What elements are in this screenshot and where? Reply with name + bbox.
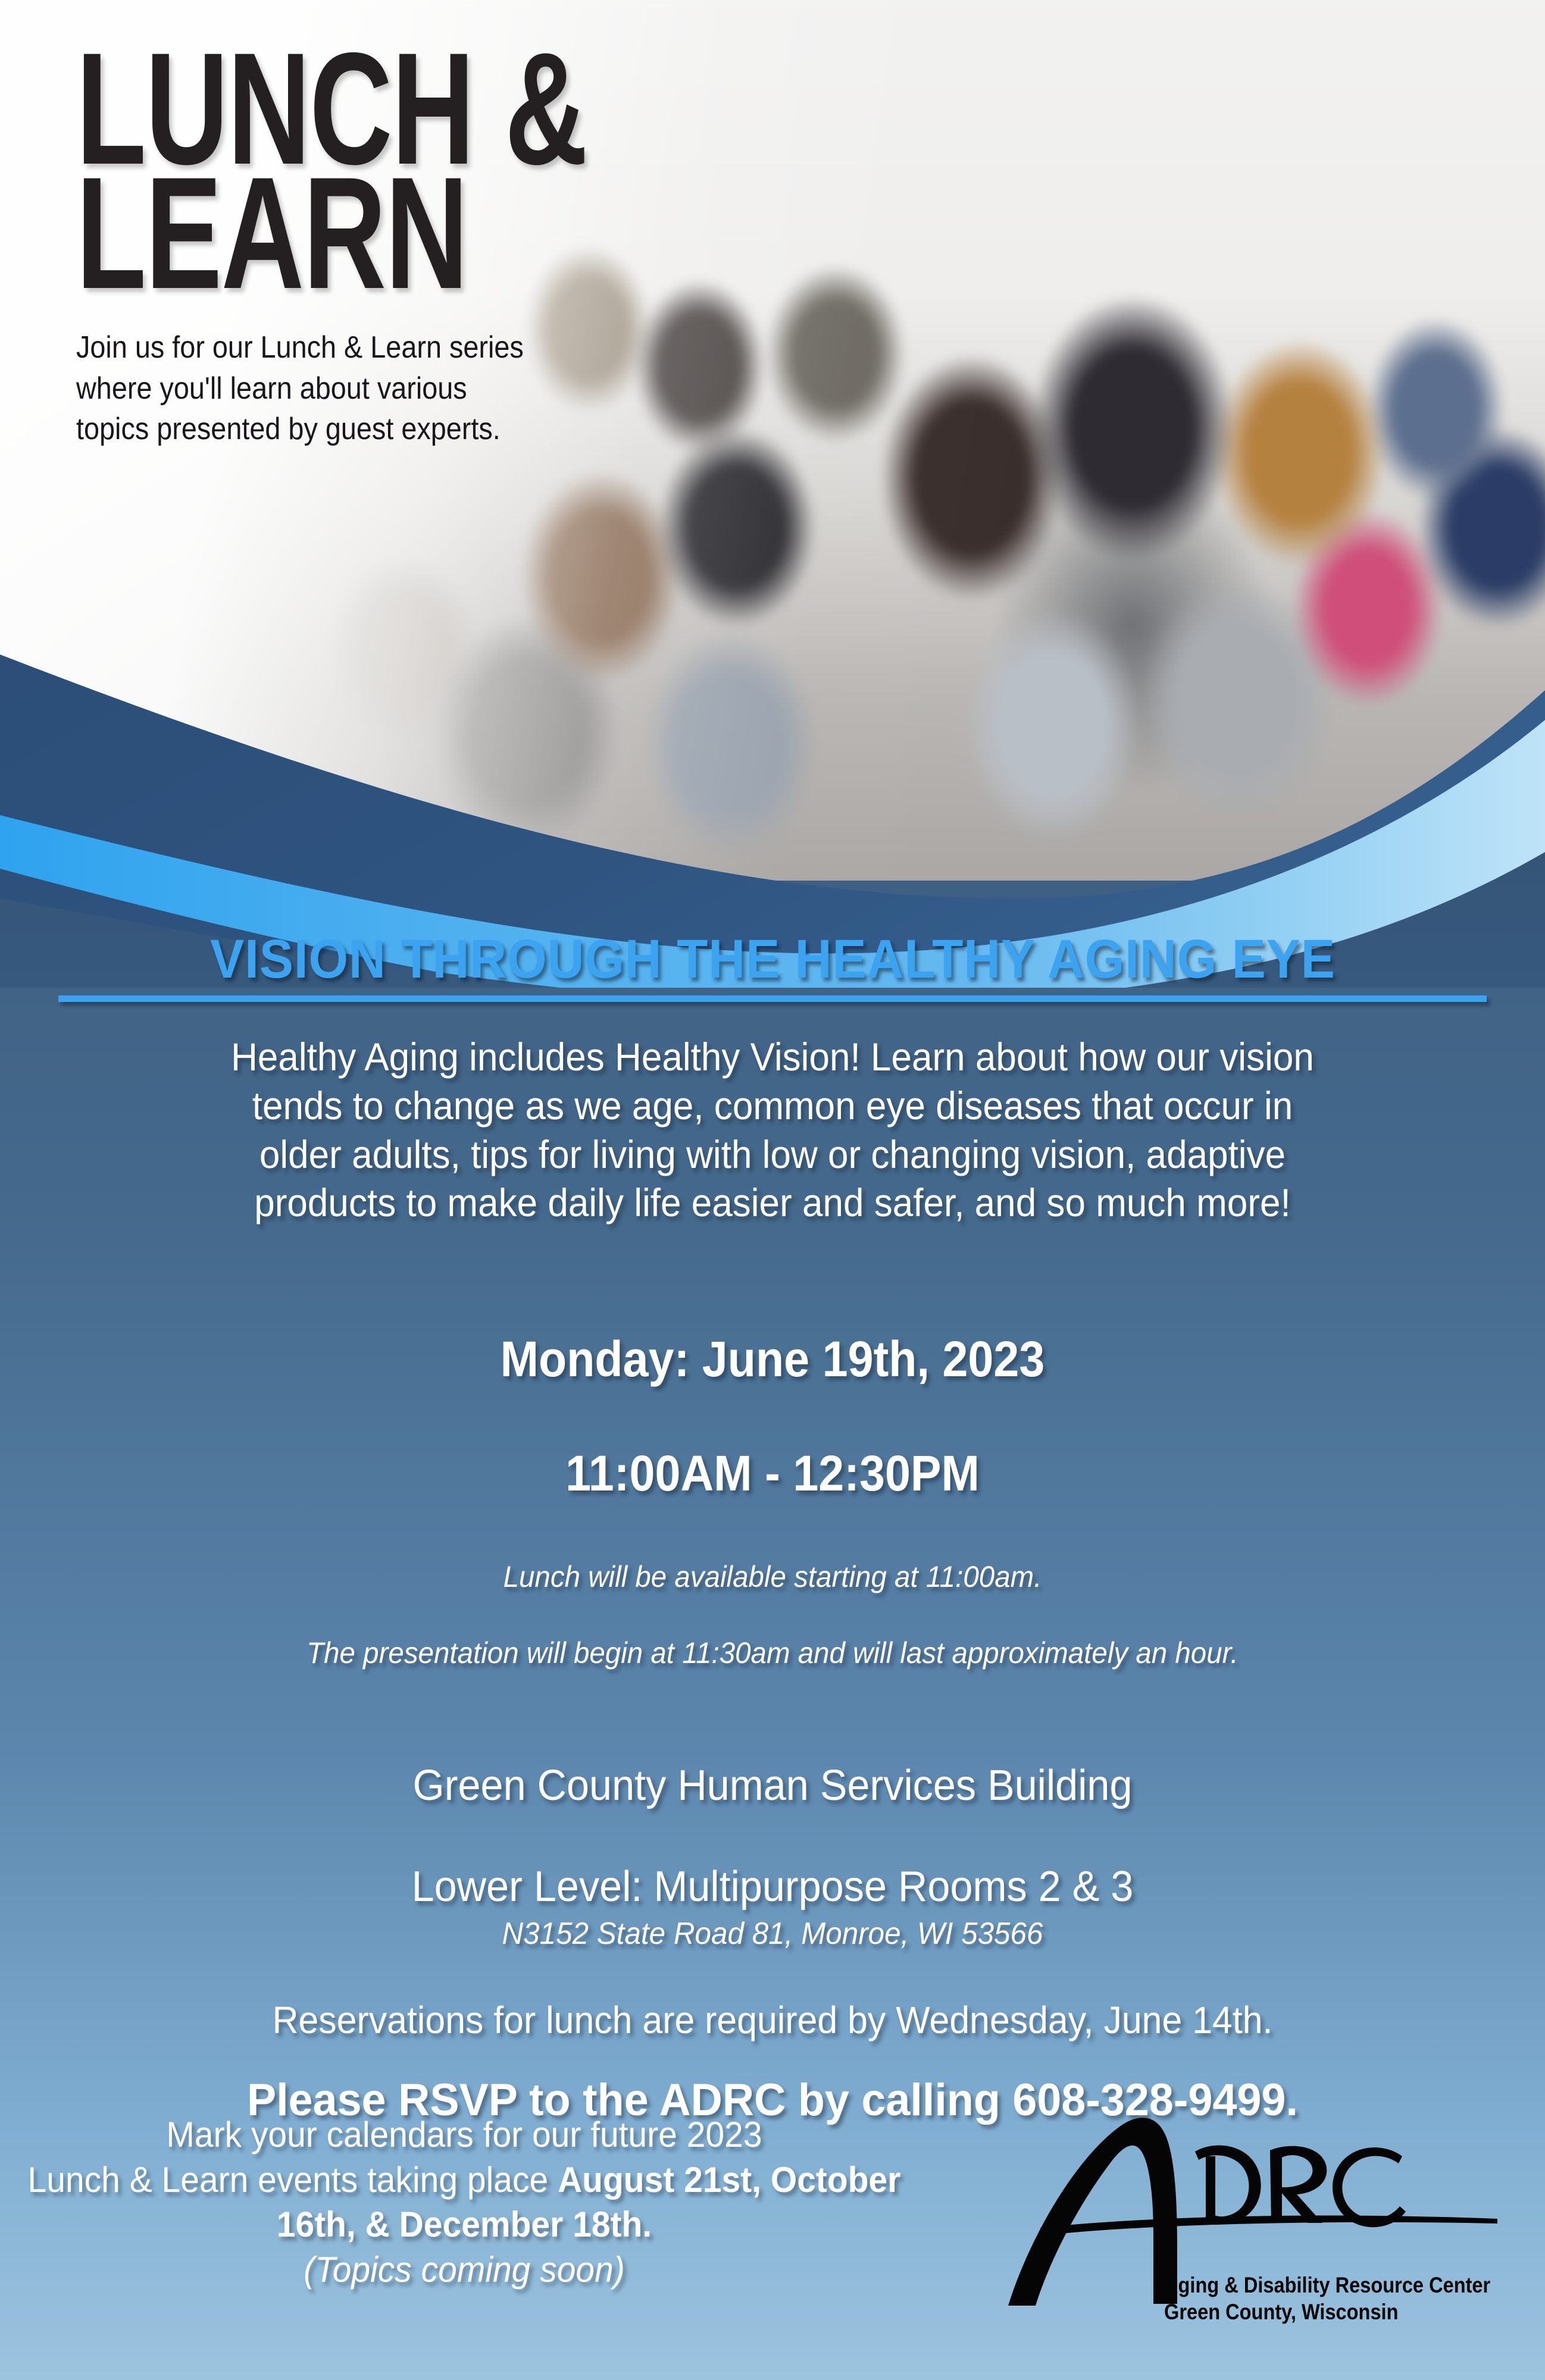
event-date: Monday: June 19th, 2023: [501, 1331, 1045, 1387]
adrc-logo-line2: Green County, Wisconsin: [1164, 2300, 1398, 2324]
poster-title-line2: LEARN: [76, 171, 587, 295]
lunch-schedule-note: Lunch will be available starting at 11:0…: [39, 1520, 1506, 1672]
main-content: VISION THROUGH THE HEALTHY AGING EYE Hea…: [0, 928, 1545, 2126]
event-description: Healthy Aging includes Healthy Vision! L…: [96, 1033, 1450, 1227]
venue-block: Green County Human Services Building Low…: [39, 1710, 1506, 1912]
future-events-line1: Mark your calendars for our future 2023: [166, 2115, 762, 2154]
event-headline: VISION THROUGH THE HEALTHY AGING EYE: [210, 928, 1336, 991]
adrc-logo-line1: Aging & Disability Resource Center: [1164, 2273, 1490, 2297]
future-topics-note: (Topics coming soon): [304, 2250, 625, 2290]
poster-lede: Join us for our Lunch & Learn series whe…: [76, 327, 715, 450]
flyer-poster: LUNCH & LEARN Join us for our Lunch & Le…: [0, 0, 1545, 2380]
venue-address: N3152 State Road 81, Monroe, WI 53566: [39, 1916, 1506, 1952]
event-datetime: Monday: June 19th, 2023 11:00AM - 12:30P…: [62, 1274, 1483, 1502]
reservation-deadline: Reservations for lunch are required by W…: [39, 1998, 1506, 2042]
lunch-note-line2: The presentation will begin at 11:30am a…: [307, 1636, 1238, 1670]
headline-underline: [58, 995, 1487, 1002]
adrc-logo: Aging & Disability Resource Center Green…: [986, 2094, 1521, 2356]
future-events-note: Mark your calendars for our future 2023 …: [23, 2094, 905, 2292]
event-time: 11:00AM - 12:30PM: [565, 1445, 980, 1501]
venue-name: Green County Human Services Building: [413, 1762, 1133, 1809]
header-text-block: LUNCH & LEARN Join us for our Lunch & Le…: [76, 46, 786, 450]
venue-room: Lower Level: Multipurpose Rooms 2 & 3: [412, 1863, 1134, 1911]
lunch-note-line1: Lunch will be available starting at 11:0…: [503, 1560, 1042, 1593]
headline-wrap: VISION THROUGH THE HEALTHY AGING EYE: [0, 928, 1545, 1002]
footer-region: Mark your calendars for our future 2023 …: [0, 2094, 1545, 2380]
future-events-line2: Lunch & Learn events taking place: [28, 2160, 558, 2200]
